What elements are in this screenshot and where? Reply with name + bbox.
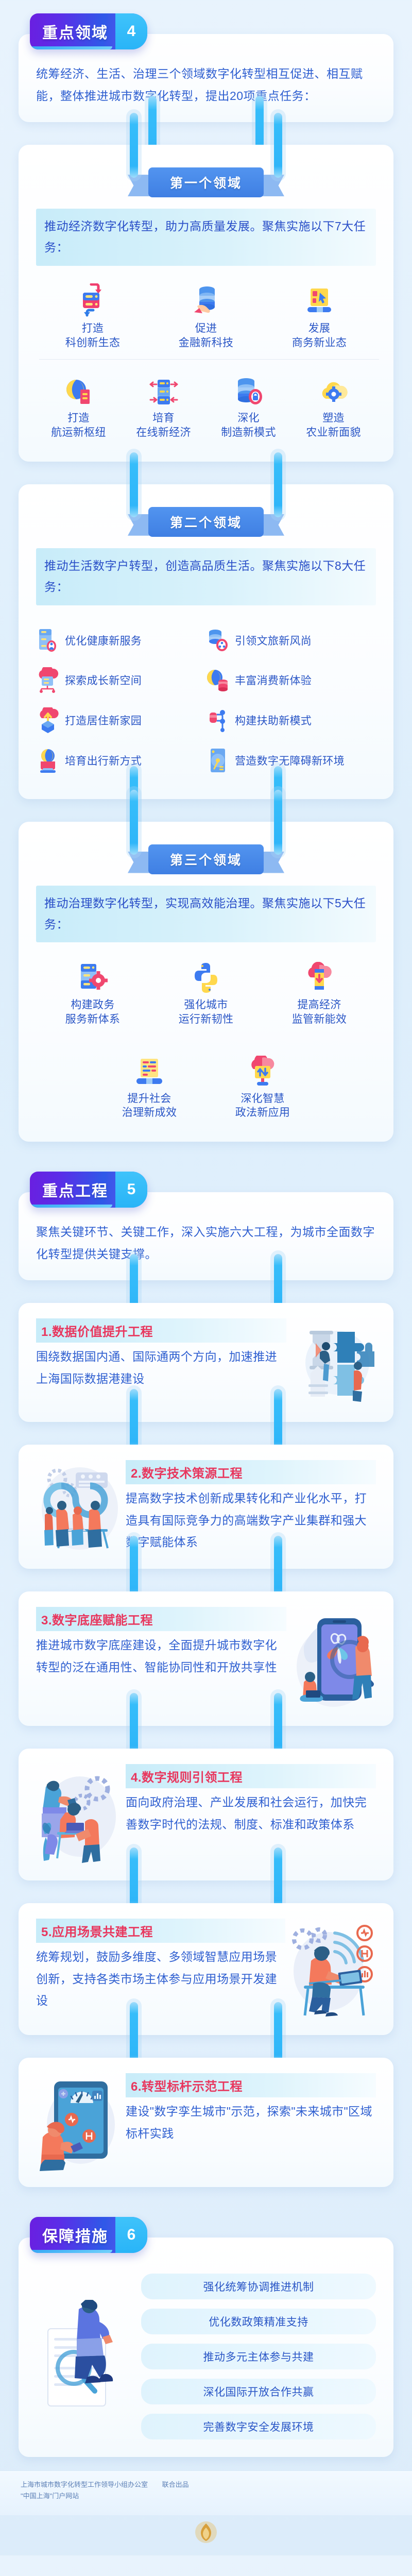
domain-3-task-row-1: 构建政务服务新体系 强化城市运行新韧性: [36, 946, 376, 1032]
project-body: 统筹规划，鼓励多维度、多领域智慧应用场景创新，支持各类市场主体参与应用场景开发建…: [36, 1946, 285, 2012]
domain-ribbon-label-3: 第三个领域: [148, 844, 264, 874]
task-tile: 构建政务服务新体系: [36, 955, 149, 1032]
task-label: 丰富消费新体验: [235, 672, 312, 688]
project-body: 建设"数字孪生城市"示范，探索"未来城市"区域标杆实践: [126, 2100, 376, 2144]
footer-logo: [0, 2515, 412, 2555]
task-tile: 发展商务新业态: [263, 278, 376, 356]
connector-rail-right: [274, 452, 282, 517]
project-title: 5.应用场景共建工程: [36, 1919, 285, 1943]
key-projects-title: 重点工程: [30, 1172, 115, 1208]
people-gears-illustration: [36, 1764, 124, 1865]
task-label: 构建政务服务新体系: [65, 998, 121, 1026]
domain-ribbon-3: 第三个领域: [36, 844, 376, 874]
key-projects-chip: 重点工程 5: [0, 1172, 412, 1208]
database-share-icon: [206, 628, 230, 653]
domain-ribbon-label-2: 第二个领域: [148, 507, 264, 537]
domain-band-1: 推动经济数字化转型，助力高质量发展。聚焦实施以下7大任务：: [36, 209, 376, 266]
task-list-item: 优化健康新服务: [36, 621, 206, 660]
task-label: 发展商务新业态: [292, 321, 347, 350]
task-list-item: 构建扶助新模式: [206, 700, 376, 740]
task-label: 引领文旅新风尚: [235, 633, 312, 648]
phone-dashboard-illustration: [36, 2073, 124, 2172]
laptop-list-icon: [133, 1053, 165, 1088]
project-card-4: 4.数字规则引领工程 面向政府治理、产业发展和社会运行，加快完善数字时代的法规、…: [19, 1749, 393, 1880]
project-card-1: 1.数据价值提升工程 围绕数据国内通、国际通两个方向，加速推进上海国际数据港建设: [19, 1303, 393, 1422]
key-projects-number: 5: [115, 1172, 147, 1208]
person-documents-illustration: [36, 2300, 134, 2413]
safeguards-title: 保障措施: [30, 2217, 115, 2253]
safeguard-item: 优化数政策精准支持: [141, 2309, 376, 2334]
domain-ribbon-label-1: 第一个领域: [148, 167, 264, 197]
task-tile: 打造航运新枢纽: [36, 368, 121, 446]
task-label: 提高经济监管新能效: [292, 998, 347, 1026]
globe-card-icon: [64, 372, 94, 407]
disk-icon: [206, 748, 230, 773]
footer-credit-mark: 联合出品: [162, 2481, 189, 2488]
task-list-item: 探索成长新空间: [36, 660, 206, 700]
project-body: 面向政府治理、产业发展和社会运行，加快完善数字时代的法规、制度、标准和政策体系: [126, 1791, 376, 1835]
safeguard-item: 推动多元主体参与共建: [141, 2344, 376, 2369]
database-lock-icon: [233, 372, 265, 407]
task-tile: 塑造农业新面貌: [291, 368, 376, 446]
project-card-6: 6.转型标杆示范工程 建设"数字孪生城市"示范，探索"未来城市"区域标杆实践: [19, 2058, 393, 2187]
project-content: 2.数字技术策源工程 提高数字技术创新成果转化和产业化水平，打造具有国际竞争力的…: [36, 1460, 376, 1553]
task-tile: 提高经济监管新能效: [263, 955, 376, 1032]
domain-1-task-row-2: 打造航运新枢纽: [36, 360, 376, 446]
task-tile: 打造科创新生态: [36, 278, 149, 356]
cloud-upload-icon: [36, 707, 60, 733]
project-card-3: 3.数字底座赋能工程 推进城市数字底座建设，全面提升城市数字化转型的泛在通用性、…: [19, 1591, 393, 1726]
safeguard-item: 深化国际开放合作共赢: [141, 2379, 376, 2404]
safeguards-list: 强化统筹协调推进机制 优化数政策精准支持 推动多元主体参与共建 深化国际开放合作…: [141, 2274, 376, 2439]
desk-worker-illustration: [287, 1919, 376, 2020]
project-content: 6.转型标杆示范工程 建设"数字孪生城市"示范，探索"未来城市"区域标杆实践: [36, 2073, 376, 2172]
phone-magnifier-illustration: [288, 1607, 376, 1710]
project-title: 4.数字规则引领工程: [126, 1764, 376, 1788]
project-content: 3.数字底座赋能工程 推进城市数字底座建设，全面提升城市数字化转型的泛在通用性、…: [36, 1607, 376, 1710]
focus-areas-title: 重点领域: [30, 13, 115, 49]
project-card-5: 5.应用场景共建工程 统筹规划，鼓励多维度、多领域智慧应用场景创新，支持各类市场…: [19, 1903, 393, 2035]
server-user-icon: [36, 628, 60, 653]
task-list-item: 引领文旅新风尚: [206, 621, 376, 660]
domain-1-task-row-1: 打造科创新生态 促进金融新科技: [36, 270, 376, 356]
project-title: 1.数据价值提升工程: [36, 1318, 286, 1343]
node-link-icon: [206, 707, 230, 733]
task-tile: 深化制造新模式: [206, 368, 291, 446]
task-tile: 促进金融新科技: [149, 278, 263, 356]
project-content: 4.数字规则引领工程 面向政府治理、产业发展和社会运行，加快完善数字时代的法规、…: [36, 1764, 376, 1865]
task-label: 构建扶助新模式: [235, 713, 312, 728]
task-tile: 深化智慧政法新应用: [206, 1048, 319, 1126]
domain-band-2: 推动生活数字户转型，创造高品质生活。聚焦实施以下8大任务：: [36, 548, 376, 605]
globe-database-icon: [206, 668, 230, 692]
project-body: 提高数字技术创新成果转化和产业化水平，打造具有国际竞争力的高端数字产业集群和强大…: [126, 1487, 376, 1553]
task-list-item: 培育出行新方式: [36, 740, 206, 781]
task-label: 打造航运新枢纽: [51, 411, 106, 439]
safeguard-item: 强化统筹协调推进机制: [141, 2274, 376, 2299]
task-label: 提升社会治理新成效: [122, 1092, 177, 1120]
project-title: 6.转型标杆示范工程: [126, 2073, 376, 2097]
task-label: 深化智慧政法新应用: [235, 1092, 290, 1120]
task-label: 打造居住新家园: [65, 713, 142, 728]
connector-rail-right: [274, 113, 282, 178]
footer-credit-line1: 上海市城市数字化转型工作领导小组办公室: [21, 2481, 148, 2488]
project-body: 推进城市数字底座建设，全面提升城市数字化转型的泛在通用性、智能协同性和开放共享性: [36, 1634, 286, 1678]
server-arrows-icon: [147, 372, 180, 407]
puzzle-hourglass-illustration: [288, 1318, 376, 1406]
project-title: 3.数字底座赋能工程: [36, 1607, 286, 1631]
task-label: 营造数字无障碍新环境: [235, 753, 345, 768]
cloud-gear-icon: [318, 372, 350, 407]
project-content: 5.应用场景共建工程 统筹规划，鼓励多维度、多领域智慧应用场景创新，支持各类市场…: [36, 1919, 376, 2020]
python-icon: [192, 959, 220, 994]
globe-shield-icon: [36, 748, 60, 773]
project-card-2: 2.数字技术策源工程 提高数字技术创新成果转化和产业化水平，打造具有国际竞争力的…: [19, 1445, 393, 1569]
team-infinity-illustration: [36, 1460, 124, 1553]
domain-card-1: 第一个领域 推动经济数字化转型，助力高质量发展。聚焦实施以下7大任务：: [19, 145, 393, 462]
connector-rail-left: [130, 452, 138, 517]
task-label: 促进金融新科技: [179, 321, 234, 350]
task-tile: 培育在线新经济: [121, 368, 206, 446]
page-footer: 上海市城市数字化转型工作领导小组办公室 联合出品 "中国上海"门户网站: [0, 2470, 412, 2515]
connector-rail-left: [130, 113, 138, 178]
focus-areas-intro-text: 统筹经济、生活、治理三个领域数字化转型相互促进、相互赋能，整体推进城市数字化转型…: [36, 63, 376, 107]
project-content: 1.数据价值提升工程 围绕数据国内通、国际通两个方向，加速推进上海国际数据港建设: [36, 1318, 376, 1406]
safeguard-item: 完善数字安全发展环境: [141, 2414, 376, 2439]
task-list-item: 打造居住新家园: [36, 700, 206, 740]
task-tile: 强化城市运行新韧性: [149, 955, 263, 1032]
task-list-item: 丰富消费新体验: [206, 660, 376, 700]
server-gear-icon: [77, 959, 109, 994]
domain-ribbon-2: 第二个领域: [36, 507, 376, 537]
database-hand-icon: [190, 282, 222, 317]
safeguards-card: 强化统筹协调推进机制 优化数政策精准支持 推动多元主体参与共建 深化国际开放合作…: [19, 2238, 393, 2457]
task-tile-spacer: [319, 1048, 376, 1126]
task-label: 强化城市运行新韧性: [179, 998, 234, 1026]
task-label: 培育在线新经济: [136, 411, 191, 439]
focus-areas-number: 4: [115, 13, 147, 49]
laptop-cursor-icon: [303, 282, 335, 317]
key-projects-intro-text: 聚焦关键环节、关键工作，深入实施六大工程，为城市全面数字化转型提供关键支撑。: [36, 1221, 376, 1265]
footer-credit: 上海市城市数字化转型工作领导小组办公室 联合出品 "中国上海"门户网站: [21, 2479, 391, 2502]
footer-credit-line2: "中国上海"门户网站: [21, 2492, 79, 2500]
domain-card-2: 第二个领域 推动生活数字户转型，创造高品质生活。聚焦实施以下8大任务：: [19, 484, 393, 799]
domain-2-task-list: 优化健康新服务: [36, 609, 376, 784]
task-label: 探索成长新空间: [65, 672, 142, 688]
cloud-download-icon: [303, 959, 335, 994]
task-label: 优化健康新服务: [65, 633, 142, 648]
cloud-server-icon: [36, 667, 60, 693]
task-tile-spacer: [36, 1048, 93, 1126]
server-transfer-icon: [78, 282, 108, 317]
cloud-sync-icon: [247, 1053, 279, 1088]
task-tile: 提升社会治理新成效: [93, 1048, 206, 1126]
infographic-page: 重点领域 4 统筹经济、生活、治理三个领域数字化转型相互促进、相互赋能，整体推进…: [0, 0, 412, 2555]
safeguards-chip: 保障措施 6: [0, 2217, 412, 2253]
domain-card-3: 第三个领域 推动治理数字化转型，实现高效能治理。聚焦实施以下5大任务：: [19, 822, 393, 1142]
task-label: 打造科创新生态: [65, 321, 121, 350]
project-title: 2.数字技术策源工程: [126, 1460, 376, 1484]
task-list-item: 营造数字无障碍新环境: [206, 740, 376, 781]
connector-rail-left: [130, 790, 138, 855]
safeguards-content: 强化统筹协调推进机制 优化数政策精准支持 推动多元主体参与共建 深化国际开放合作…: [36, 2268, 376, 2439]
safeguards-number: 6: [115, 2217, 147, 2253]
domain-3-task-row-2: 提升社会治理新成效 深化智慧政法新应用: [36, 1033, 376, 1126]
domain-ribbon-1: 第一个领域: [36, 167, 376, 197]
project-body: 围绕数据国内通、国际通两个方向，加速推进上海国际数据港建设: [36, 1346, 286, 1389]
task-label: 塑造农业新面貌: [306, 411, 361, 439]
connector-rail-right: [274, 790, 282, 855]
focus-areas-chip: 重点领域 4: [0, 13, 412, 49]
task-label: 深化制造新模式: [221, 411, 276, 439]
domain-band-3: 推动治理数字化转型，实现高效能治理。聚焦实施以下5大任务：: [36, 886, 376, 943]
